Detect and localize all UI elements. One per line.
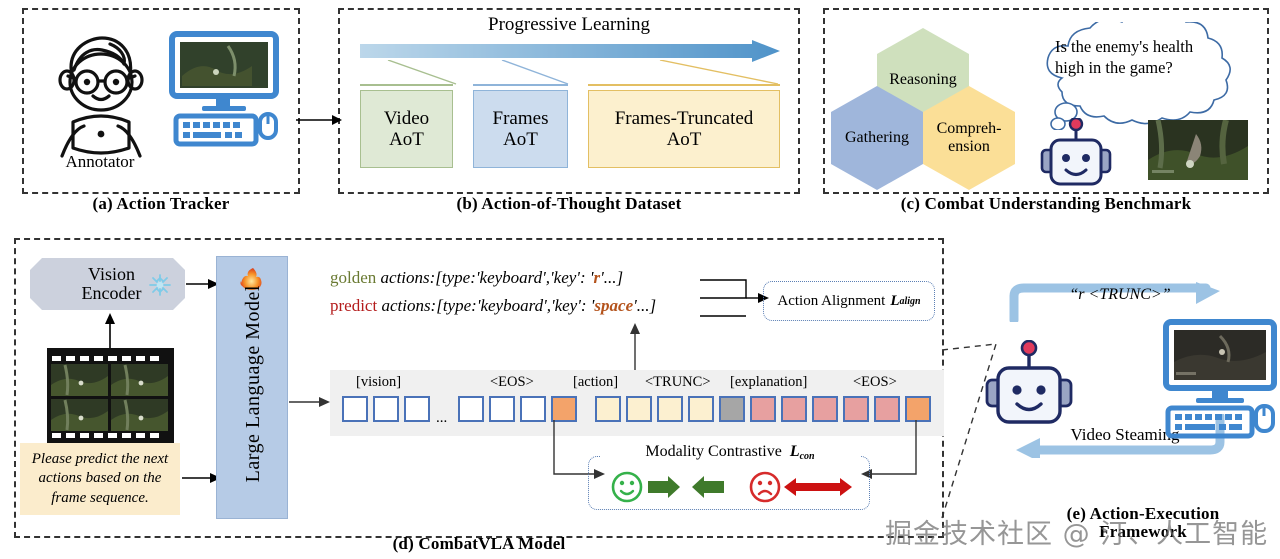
box-video-aot[interactable]: Video AoT [360, 90, 453, 168]
box-frames-truncated-aot-line2: AoT [667, 129, 702, 150]
box-frames-aot-line1: Frames [493, 108, 549, 129]
predict-key: space [594, 296, 633, 315]
predict-body-post: '...] [633, 296, 656, 315]
action-alignment-label: Action Alignment [777, 293, 885, 310]
token-action-4[interactable] [688, 396, 714, 422]
box-frames-aot[interactable]: Frames AoT [473, 90, 568, 168]
arrow-frames-to-encoder [100, 312, 120, 352]
snowflake-icon [149, 274, 171, 296]
annotator-label: Annotator [40, 152, 160, 172]
token-explanation-2[interactable] [781, 396, 807, 422]
token-label-explanation: [explanation] [730, 374, 807, 391]
box-video-aot-line1: Video [384, 108, 429, 129]
caption-panel-c: (c) Combat Understanding Benchmark [823, 194, 1269, 214]
benchmark-question: Is the enemy's health high in the game? [1055, 36, 1230, 79]
action-alignment-loss-box: Action Alignment Lalign [763, 281, 935, 321]
caption-panel-d: (d) CombatVLA Model [14, 534, 944, 554]
token-label-eos-2: <EOS> [853, 374, 897, 391]
golden-body-post: '...] [600, 268, 623, 287]
token-eos-2[interactable] [905, 396, 931, 422]
token-action-3[interactable] [657, 396, 683, 422]
watermark-text: 掘金技术社区 @ 汀、人工智能 [885, 512, 1280, 551]
token-ellipsis: ... [436, 410, 447, 427]
game-screenshot-benchmark [1148, 120, 1248, 180]
arrow-tokens-to-predict [625, 322, 645, 372]
box-frames-aot-line2: AoT [503, 129, 538, 150]
token-vision-5[interactable] [489, 396, 515, 422]
rule-frames-aot [473, 84, 568, 86]
token-action-2[interactable] [626, 396, 652, 422]
box-frames-truncated-aot[interactable]: Frames-Truncated AoT [588, 90, 780, 168]
trunc-signal-label: “r <TRUNC>” [1035, 286, 1205, 304]
token-vision-6[interactable] [520, 396, 546, 422]
golden-tag: golden [330, 268, 376, 287]
modality-contrastive-label-wrap: Modality Contrastive Lcon [600, 443, 860, 462]
modality-contrastive-label: Modality Contrastive [645, 443, 781, 460]
llm-label: Large Language Model [242, 285, 265, 492]
box-frames-truncated-aot-line1: Frames-Truncated [615, 108, 754, 129]
benchmark-question-line1: Is the enemy's health [1055, 36, 1230, 57]
hexagon-comprehension-line1: Compreh- [937, 120, 1002, 137]
hexagon-reasoning-label: Reasoning [889, 71, 957, 89]
computer-monitor-icon [1162, 318, 1278, 442]
prompt-text-box: Please predict the next actions based on… [20, 443, 180, 515]
robot-icon [985, 340, 1073, 426]
benchmark-question-line2: high in the game? [1055, 57, 1230, 78]
connector-a-to-b [296, 110, 344, 130]
progressive-learning-arrow [360, 40, 780, 62]
predict-body-pre: actions:[type:'keyboard','key': ' [377, 296, 594, 315]
caption-panel-a: (a) Action Tracker [22, 194, 300, 214]
token-explanation-1[interactable] [750, 396, 776, 422]
vision-encoder-block[interactable]: Vision Encoder [30, 258, 185, 310]
token-eos-1[interactable] [551, 396, 577, 422]
token-label-action: [action] [573, 374, 618, 391]
token-vision-2[interactable] [373, 396, 399, 422]
large-language-model-block[interactable]: Large Language Model [216, 256, 288, 519]
caption-panel-b: (b) Action-of-Thought Dataset [338, 194, 800, 214]
token-label-eos-1: <EOS> [490, 374, 534, 391]
rule-frames-truncated-aot [588, 84, 780, 86]
token-trunc[interactable] [719, 396, 745, 422]
token-label-trunc: <TRUNC> [645, 374, 711, 391]
video-frame-strip [47, 348, 174, 446]
golden-body-pre: actions:[type:'keyboard','key': ' [376, 268, 593, 287]
arrow-encoder-to-llm [186, 274, 220, 294]
token-vision-1[interactable] [342, 396, 368, 422]
vision-encoder-label: Vision Encoder [74, 265, 142, 304]
llm-label-wrap: Large Language Model [217, 257, 289, 520]
box-video-aot-line2: AoT [389, 129, 424, 150]
arrow-actions-to-alignment [700, 272, 770, 322]
progressive-learning-label: Progressive Learning [338, 14, 800, 36]
token-explanation-3[interactable] [812, 396, 838, 422]
golden-action-line: golden actions:[type:'keyboard','key': '… [330, 268, 750, 288]
annotator-icon [40, 30, 160, 160]
token-explanation-4[interactable] [843, 396, 869, 422]
predict-action-line: predict actions:[type:'keyboard','key': … [330, 296, 750, 316]
token-explanation-5[interactable] [874, 396, 900, 422]
arrow-llm-to-tokens [289, 392, 331, 412]
positive-pair-indicator [610, 470, 730, 504]
token-label-vision: [vision] [356, 374, 401, 391]
negative-pair-indicator [748, 470, 858, 504]
computer-monitor-icon [168, 30, 280, 150]
predict-tag: predict [330, 296, 377, 315]
token-vision-3[interactable] [404, 396, 430, 422]
robot-icon [1040, 118, 1112, 188]
hexagon-comprehension-line2: ension [948, 138, 990, 155]
arrow-to-box-connectors [360, 60, 780, 86]
token-action-1[interactable] [595, 396, 621, 422]
token-vision-4[interactable] [458, 396, 484, 422]
hexagon-gathering-label: Gathering [845, 129, 909, 147]
rule-video-aot [360, 84, 453, 86]
